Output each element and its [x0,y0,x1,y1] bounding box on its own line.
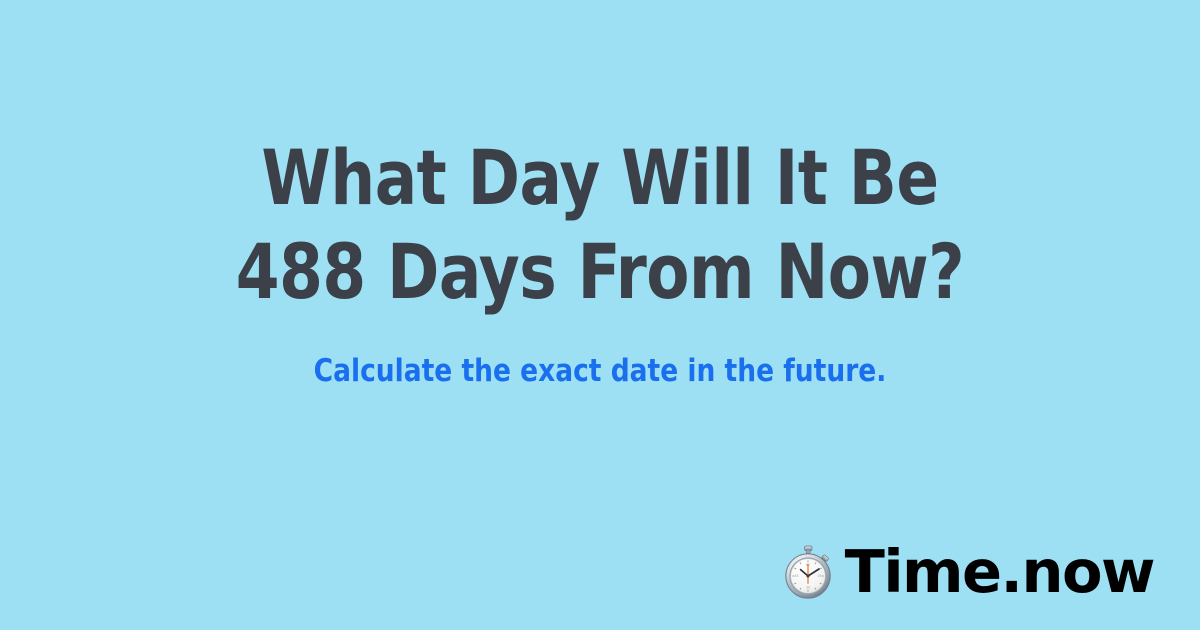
headline-line-2: 488 Days From Now? [48,225,1152,319]
brand-logo[interactable]: 60 15 30 45 Time.now [782,542,1154,602]
headline-line-1: What Day Will It Be [48,131,1152,225]
svg-text:30: 30 [806,585,810,589]
page-title: What Day Will It Be 488 Days From Now? [0,131,1200,319]
subtitle-text: Calculate the exact date in the future. [30,350,1170,392]
stopwatch-icon: 60 15 30 45 [782,545,834,599]
svg-text:45: 45 [794,574,798,578]
svg-text:15: 15 [817,574,821,578]
brand-name: Time.now [845,542,1154,602]
social-share-card: What Day Will It Be 488 Days From Now? C… [0,0,1200,630]
